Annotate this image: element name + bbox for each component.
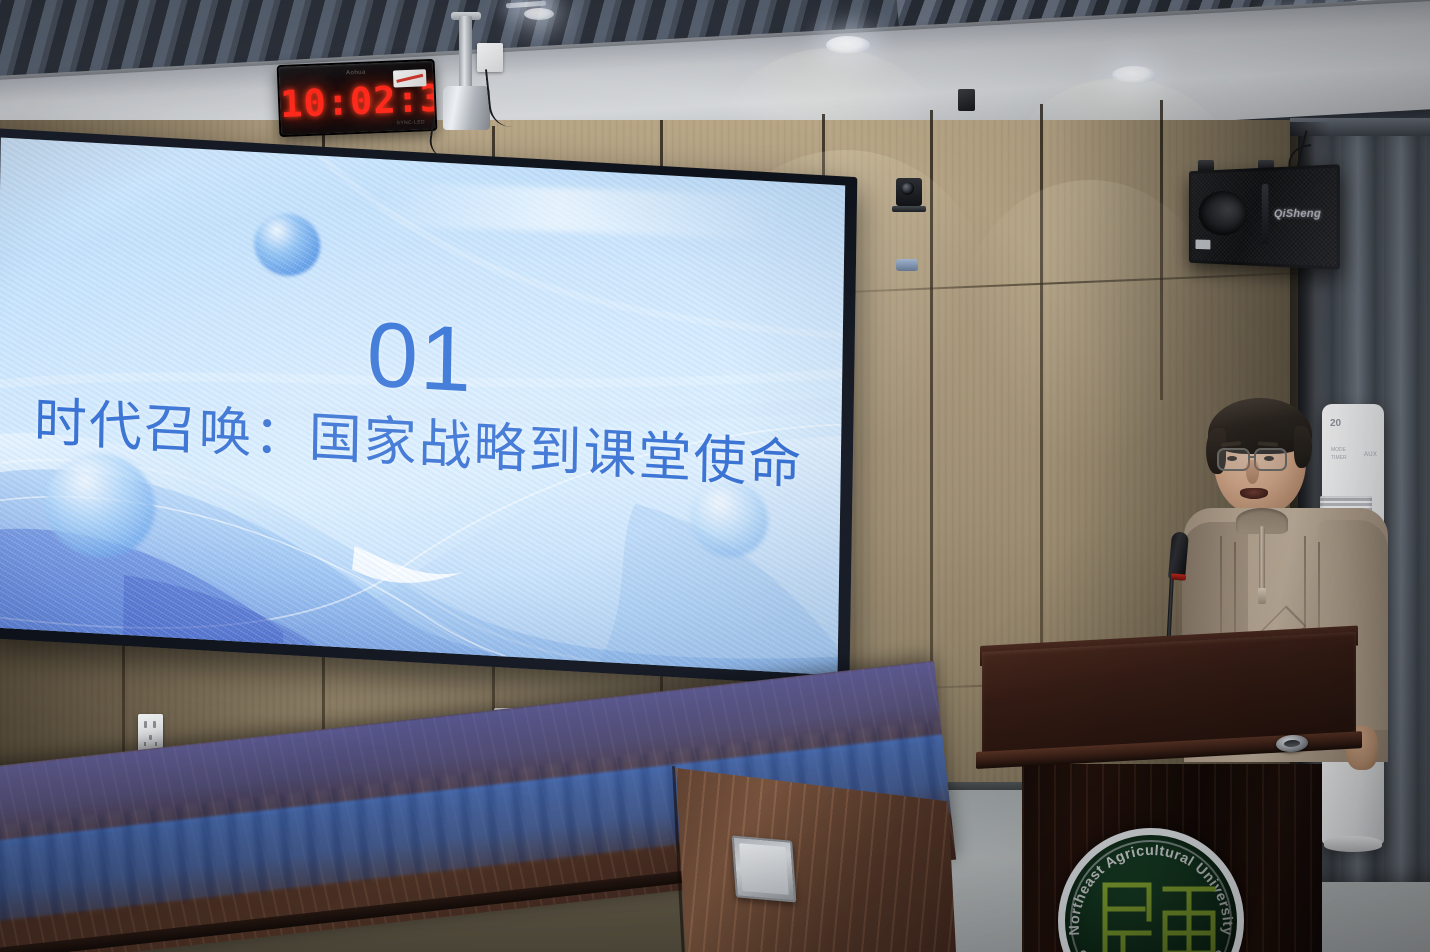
speaker-brand-label: QiSheng [1274, 207, 1321, 220]
camera-lens-icon [901, 182, 914, 195]
outlet-three-pin-icon [144, 735, 157, 747]
wall-speaker: QiSheng [1189, 164, 1340, 270]
presenter-half-zip [1259, 526, 1265, 592]
led-wall-clock: Aohua 10:02:34 SYNC-LED [277, 59, 438, 137]
display-screen[interactable]: 01 时代召唤：国家战略到课堂使命 [0, 138, 845, 676]
university-emblem: Northeast Agricultural University [1058, 828, 1244, 952]
presenter-hair-right [1294, 426, 1312, 468]
presenter-zip-pull [1258, 588, 1266, 604]
clock-model-label: SYNC-LED [396, 119, 425, 126]
speaker-woofer-icon [1199, 190, 1247, 235]
cable-port-lid[interactable] [739, 843, 789, 895]
eyeglasses-bridge [1249, 456, 1256, 458]
downlight-icon-2 [1112, 66, 1156, 84]
microphone-accent-ring [1171, 573, 1186, 580]
camera-indicator-strip [892, 206, 926, 212]
clock-warning-sticker [393, 69, 427, 87]
presenter-mouth [1240, 488, 1268, 499]
downlight-icon-3 [524, 8, 554, 20]
power-adapter-icon [958, 89, 975, 111]
lecture-hall-photo: Aohua 10:02:34 SYNC-LED [0, 0, 1430, 952]
outlet-two-pin-icon [143, 721, 158, 728]
presenter-nose [1246, 460, 1259, 484]
table-cable-port[interactable] [732, 835, 797, 902]
speaker-tweeter-icon [1262, 184, 1269, 245]
ac-base [1324, 836, 1382, 852]
speaker-spec-tag [1195, 240, 1210, 250]
ceiling-ptz-camera [443, 86, 490, 130]
emblem-glyph-icon [1097, 879, 1221, 952]
interactive-flat-panel[interactable]: 01 时代召唤：国家战略到课堂使命 [0, 128, 857, 687]
downlight-icon-1 [826, 36, 870, 54]
camera-base-label [896, 259, 918, 271]
camera-mount-pole [459, 16, 472, 92]
